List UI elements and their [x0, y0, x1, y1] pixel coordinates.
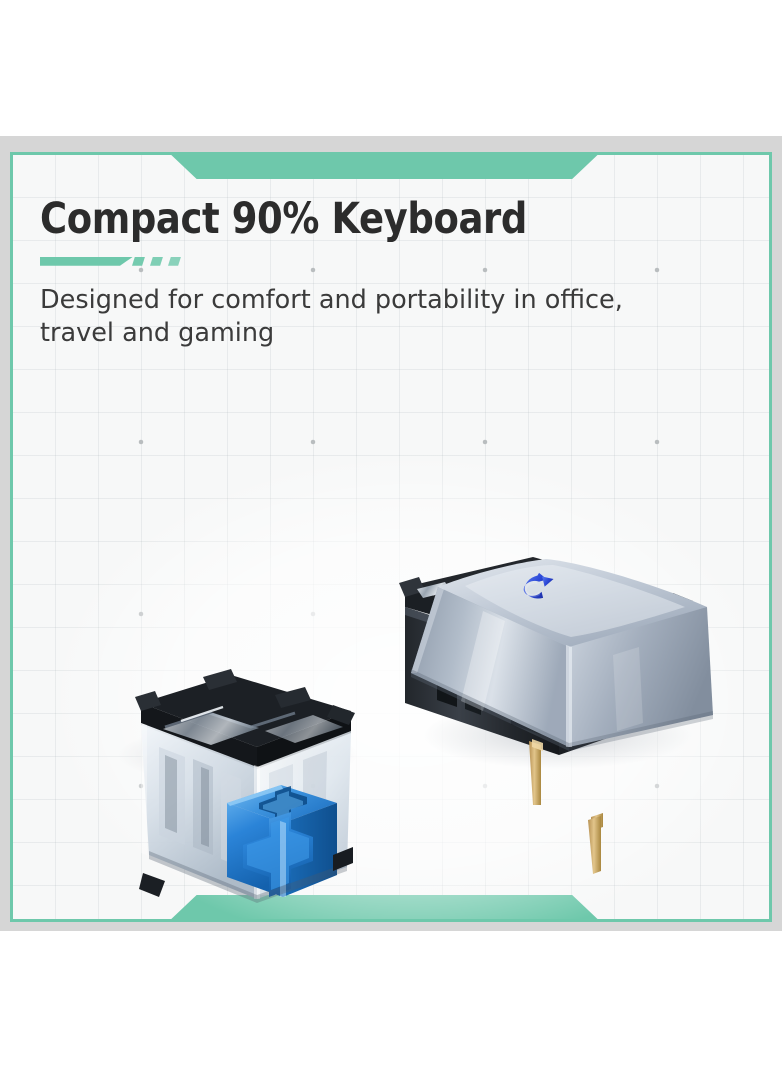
- accent-slash-2: [150, 257, 163, 266]
- product-feature-banner: Compact 90% Keyboard Designed for comfor…: [0, 0, 782, 1071]
- accent-slash-1: [132, 257, 145, 266]
- accent-slash-3: [168, 257, 181, 266]
- mint-accent-rule: [40, 256, 190, 267]
- page-title: Compact 90% Keyboard: [40, 197, 699, 242]
- framed-panel: Compact 90% Keyboard Designed for comfor…: [10, 152, 772, 922]
- banner-header: Compact 90% Keyboard Designed for comfor…: [40, 197, 730, 350]
- page-subtitle: Designed for comfort and portability in …: [40, 284, 700, 350]
- accent-bar: [40, 257, 133, 266]
